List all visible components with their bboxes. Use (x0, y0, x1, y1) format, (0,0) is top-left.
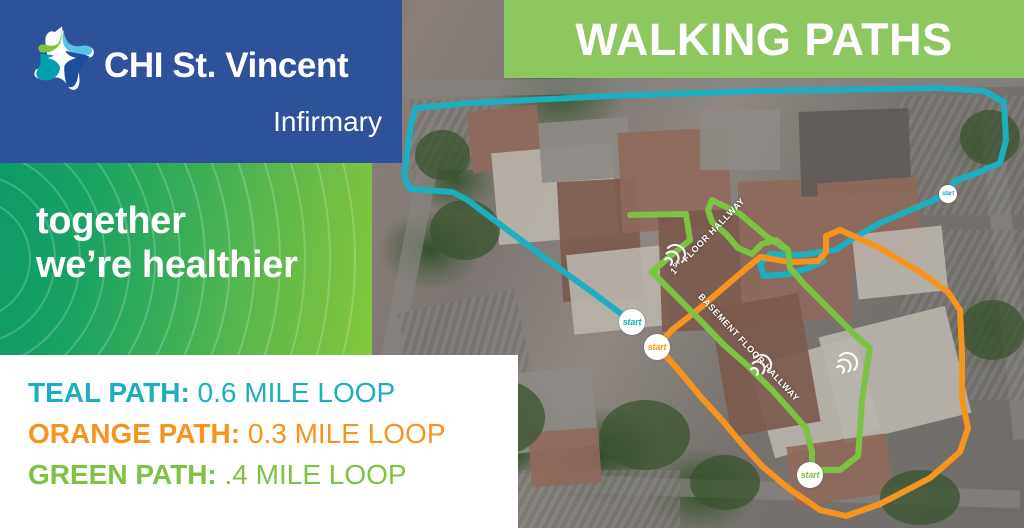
teal-path (404, 88, 1006, 322)
legend-label-teal: TEAL PATH: (28, 377, 190, 408)
legend-label-orange: ORANGE PATH: (28, 418, 240, 449)
chi-star-logo-icon (26, 22, 98, 94)
page-title: WALKING PATHS (575, 17, 952, 62)
legend-row-orange: ORANGE PATH: 0.3 MILE LOOP (28, 414, 518, 455)
legend-label-green: GREEN PATH: (28, 459, 217, 490)
path-legend: TEAL PATH: 0.6 MILE LOOP ORANGE PATH: 0.… (0, 355, 518, 528)
start-marker-teal-start-west: start (619, 309, 645, 335)
legend-value-teal: 0.6 MILE LOOP (198, 377, 396, 408)
legend-row-teal: TEAL PATH: 0.6 MILE LOOP (28, 373, 518, 414)
tagline-panel: together we’re healthier (0, 163, 372, 355)
legend-row-green: GREEN PATH: .4 MILE LOOP (28, 455, 518, 496)
walking-paths-banner: WALKING PATHS (504, 0, 1024, 78)
tagline-line-1: together (36, 199, 298, 243)
start-marker-teal-start-east: start (939, 185, 957, 203)
brand-panel: CHI St. Vincent Infirmary (0, 0, 402, 163)
tagline: together we’re healthier (36, 199, 298, 288)
brand-facility: Infirmary (104, 108, 382, 136)
start-marker-orange-start: start (644, 334, 670, 360)
direction-arrow-icon (833, 349, 861, 377)
brand-name: CHI St. Vincent (104, 48, 348, 83)
legend-value-orange: 0.3 MILE LOOP (248, 418, 446, 449)
legend-value-green: .4 MILE LOOP (225, 459, 407, 490)
start-marker-green-start: start (797, 462, 823, 488)
walking-paths-poster: startstartstartstart 1ST FLOOR HALLWAYBA… (0, 0, 1024, 528)
tagline-line-2: we’re healthier (36, 243, 298, 287)
